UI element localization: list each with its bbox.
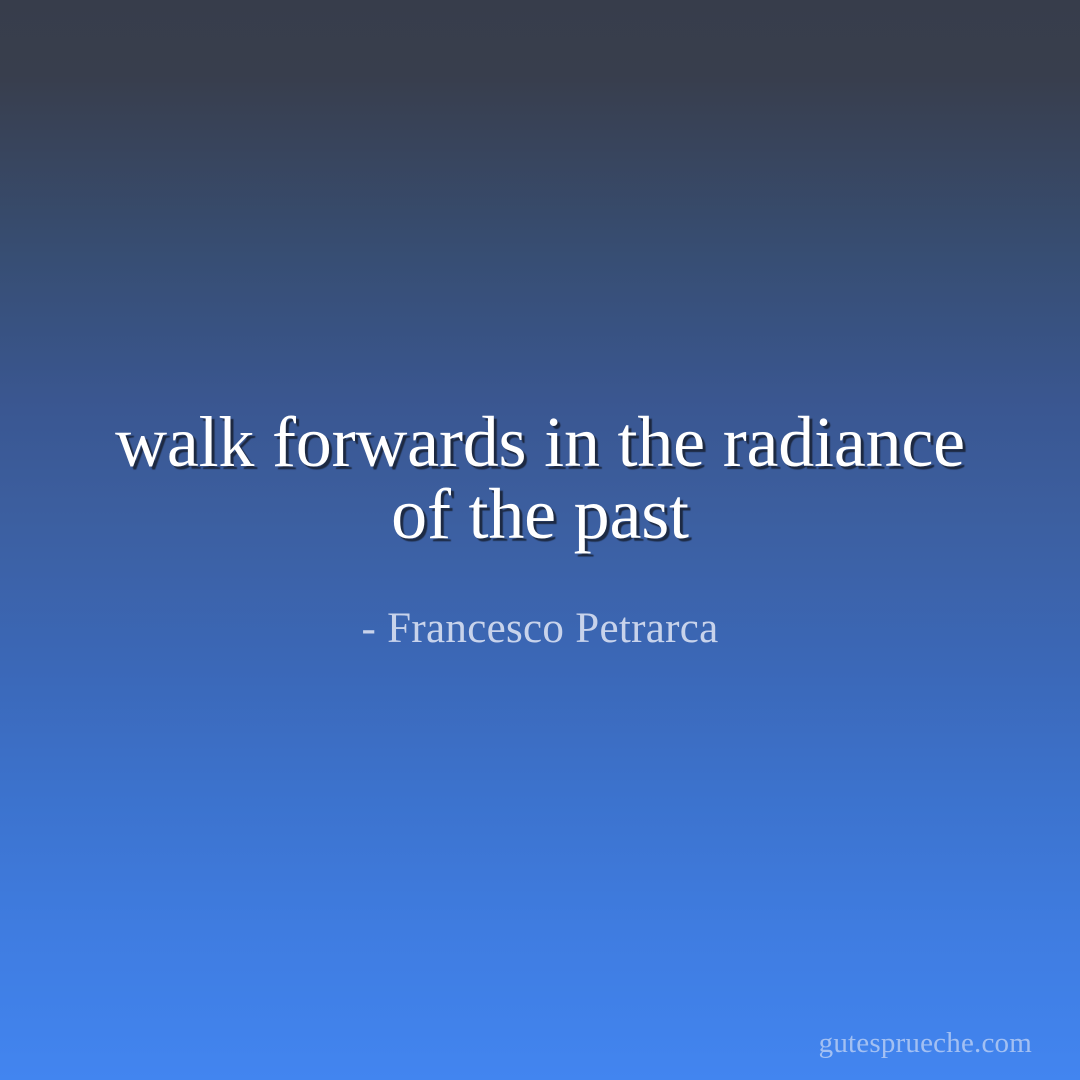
quote-image-canvas: walk forwards in the radiance of the pas…	[0, 0, 1080, 1080]
quote-attribution: - Francesco Petrarca	[0, 607, 1080, 650]
quote-text: walk forwards in the radiance of the pas…	[0, 406, 1080, 550]
quote-block: walk forwards in the radiance of the pas…	[0, 406, 1080, 550]
watermark-text: gutesprueche.com	[819, 1029, 1032, 1058]
